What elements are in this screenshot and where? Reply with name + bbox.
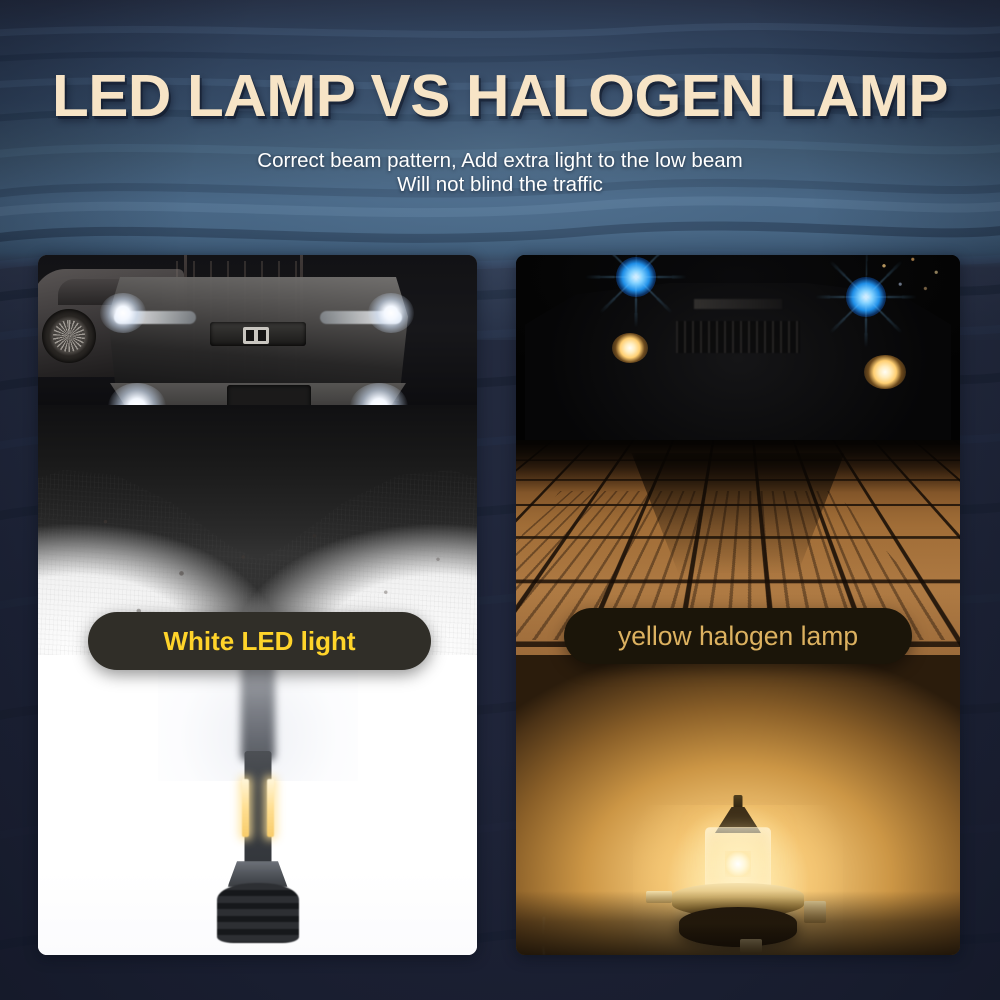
- led-vs-halogen-infographic: LED LAMP VS HALOGEN LAMP Correct beam pa…: [0, 0, 1000, 1000]
- led-bulb-base-threads: [217, 883, 299, 943]
- badge-yellow-halogen-lamp-label: yellow halogen lamp: [618, 621, 858, 652]
- led-headlight-right: [368, 293, 414, 333]
- subtitle-line-2: Will not blind the traffic: [0, 172, 1000, 197]
- halogen-fog-light-right: [864, 355, 906, 389]
- subtitle-line-1: Correct beam pattern, Add extra light to…: [0, 148, 1000, 173]
- page-title: LED LAMP VS HALOGEN LAMP: [0, 62, 1000, 130]
- halogen-fog-light-left: [612, 333, 648, 363]
- halogen-photo-dark-foreground: [516, 891, 960, 955]
- parked-car-wheel: [42, 309, 96, 363]
- halogen-filament: [725, 851, 751, 877]
- badge-white-led-light: White LED light: [88, 612, 431, 670]
- car-hood-edge: [694, 299, 783, 309]
- photo-halogen-bulb-lit: [516, 655, 960, 955]
- pavement-dark-foreground-band: [516, 440, 960, 492]
- photo-white-led-bulb: [38, 655, 477, 955]
- led-bulb-stem: [241, 655, 275, 761]
- photo-led-headlight-beam: [38, 255, 477, 655]
- photo-halogen-headlight-beam: [516, 255, 960, 655]
- honda-logo-icon: [243, 327, 269, 344]
- blue-headlight-left: [616, 257, 656, 297]
- led-chip-right: [267, 779, 274, 837]
- badge-yellow-halogen-lamp: yellow halogen lamp: [564, 608, 912, 664]
- led-chip-left: [242, 779, 249, 837]
- comparison-card-led: [38, 255, 477, 955]
- comparison-card-halogen: [516, 255, 960, 955]
- badge-white-led-light-label: White LED light: [163, 626, 355, 657]
- honda-civic-front: [108, 277, 408, 401]
- background-light-specks: [866, 255, 956, 309]
- led-headlight-left: [100, 293, 146, 333]
